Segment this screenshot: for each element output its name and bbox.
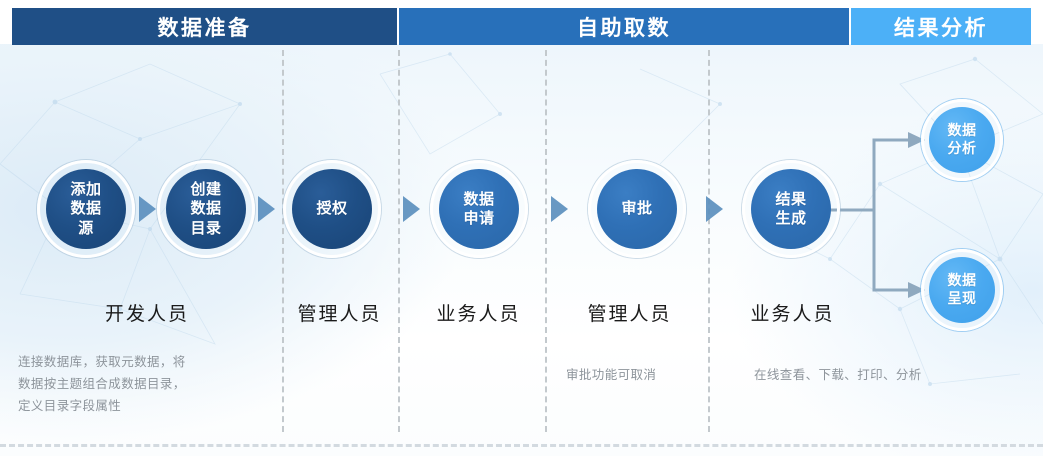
node-add-datasource[interactable]: 添加 数据 源 [37,160,135,258]
description-approval: 审批功能可取消 [566,365,746,387]
role-label-developer: 开发人员 [82,299,212,326]
node-approval[interactable]: 审批 [588,160,686,258]
step-arrow-1 [139,196,156,222]
step-arrow-4 [551,196,568,222]
lane-divider-3 [545,50,547,432]
step-arrow-2 [258,196,275,222]
node-label: 数据 分析 [948,122,977,158]
role-label-business-1: 业务人员 [421,299,536,326]
role-label-admin-2: 管理人员 [572,299,687,326]
phase-header-label: 自助取数 [577,12,671,42]
node-data-request[interactable]: 数据 申请 [430,160,528,258]
node-result-generate[interactable]: 结果 生成 [742,160,840,258]
phase-header-analysis: 结果分析 [851,8,1031,45]
node-label: 数据 呈现 [948,272,977,308]
description-data-prep: 连接数据库，获取元数据，将 数据按主题组合成数据目录， 定义目录字段属性 [18,352,270,418]
step-arrow-3 [403,196,420,222]
node-label: 授权 [316,199,347,218]
description-result-use: 在线查看、下载、打印、分析 [754,365,994,387]
node-create-catalog[interactable]: 创建 数据 目录 [157,160,255,258]
node-label: 创建 数据 目录 [190,180,221,238]
node-label: 数据 申请 [463,190,494,228]
node-label: 添加 数据 源 [70,180,101,238]
phase-header-data-prep: 数据准备 [12,8,397,45]
role-label-business-2: 业务人员 [735,299,850,326]
lane-divider-2 [398,50,400,432]
node-data-analysis[interactable]: 数据 分析 [921,99,1003,181]
phase-header-label: 数据准备 [158,12,252,42]
node-authorize[interactable]: 授权 [283,160,381,258]
step-arrow-5 [706,196,723,222]
lane-divider-1 [282,50,284,432]
phase-header-self-serve: 自助取数 [399,8,849,45]
node-label: 结果 生成 [775,190,806,228]
phase-header-label: 结果分析 [894,12,988,42]
bottom-divider [0,444,1043,447]
role-label-admin-1: 管理人员 [287,299,392,326]
node-label: 审批 [621,199,652,218]
node-data-present[interactable]: 数据 呈现 [921,249,1003,331]
flow-diagram: 数据准备 自助取数 结果分析 添加 数据 源 创建 数据 目录 [0,0,1043,456]
